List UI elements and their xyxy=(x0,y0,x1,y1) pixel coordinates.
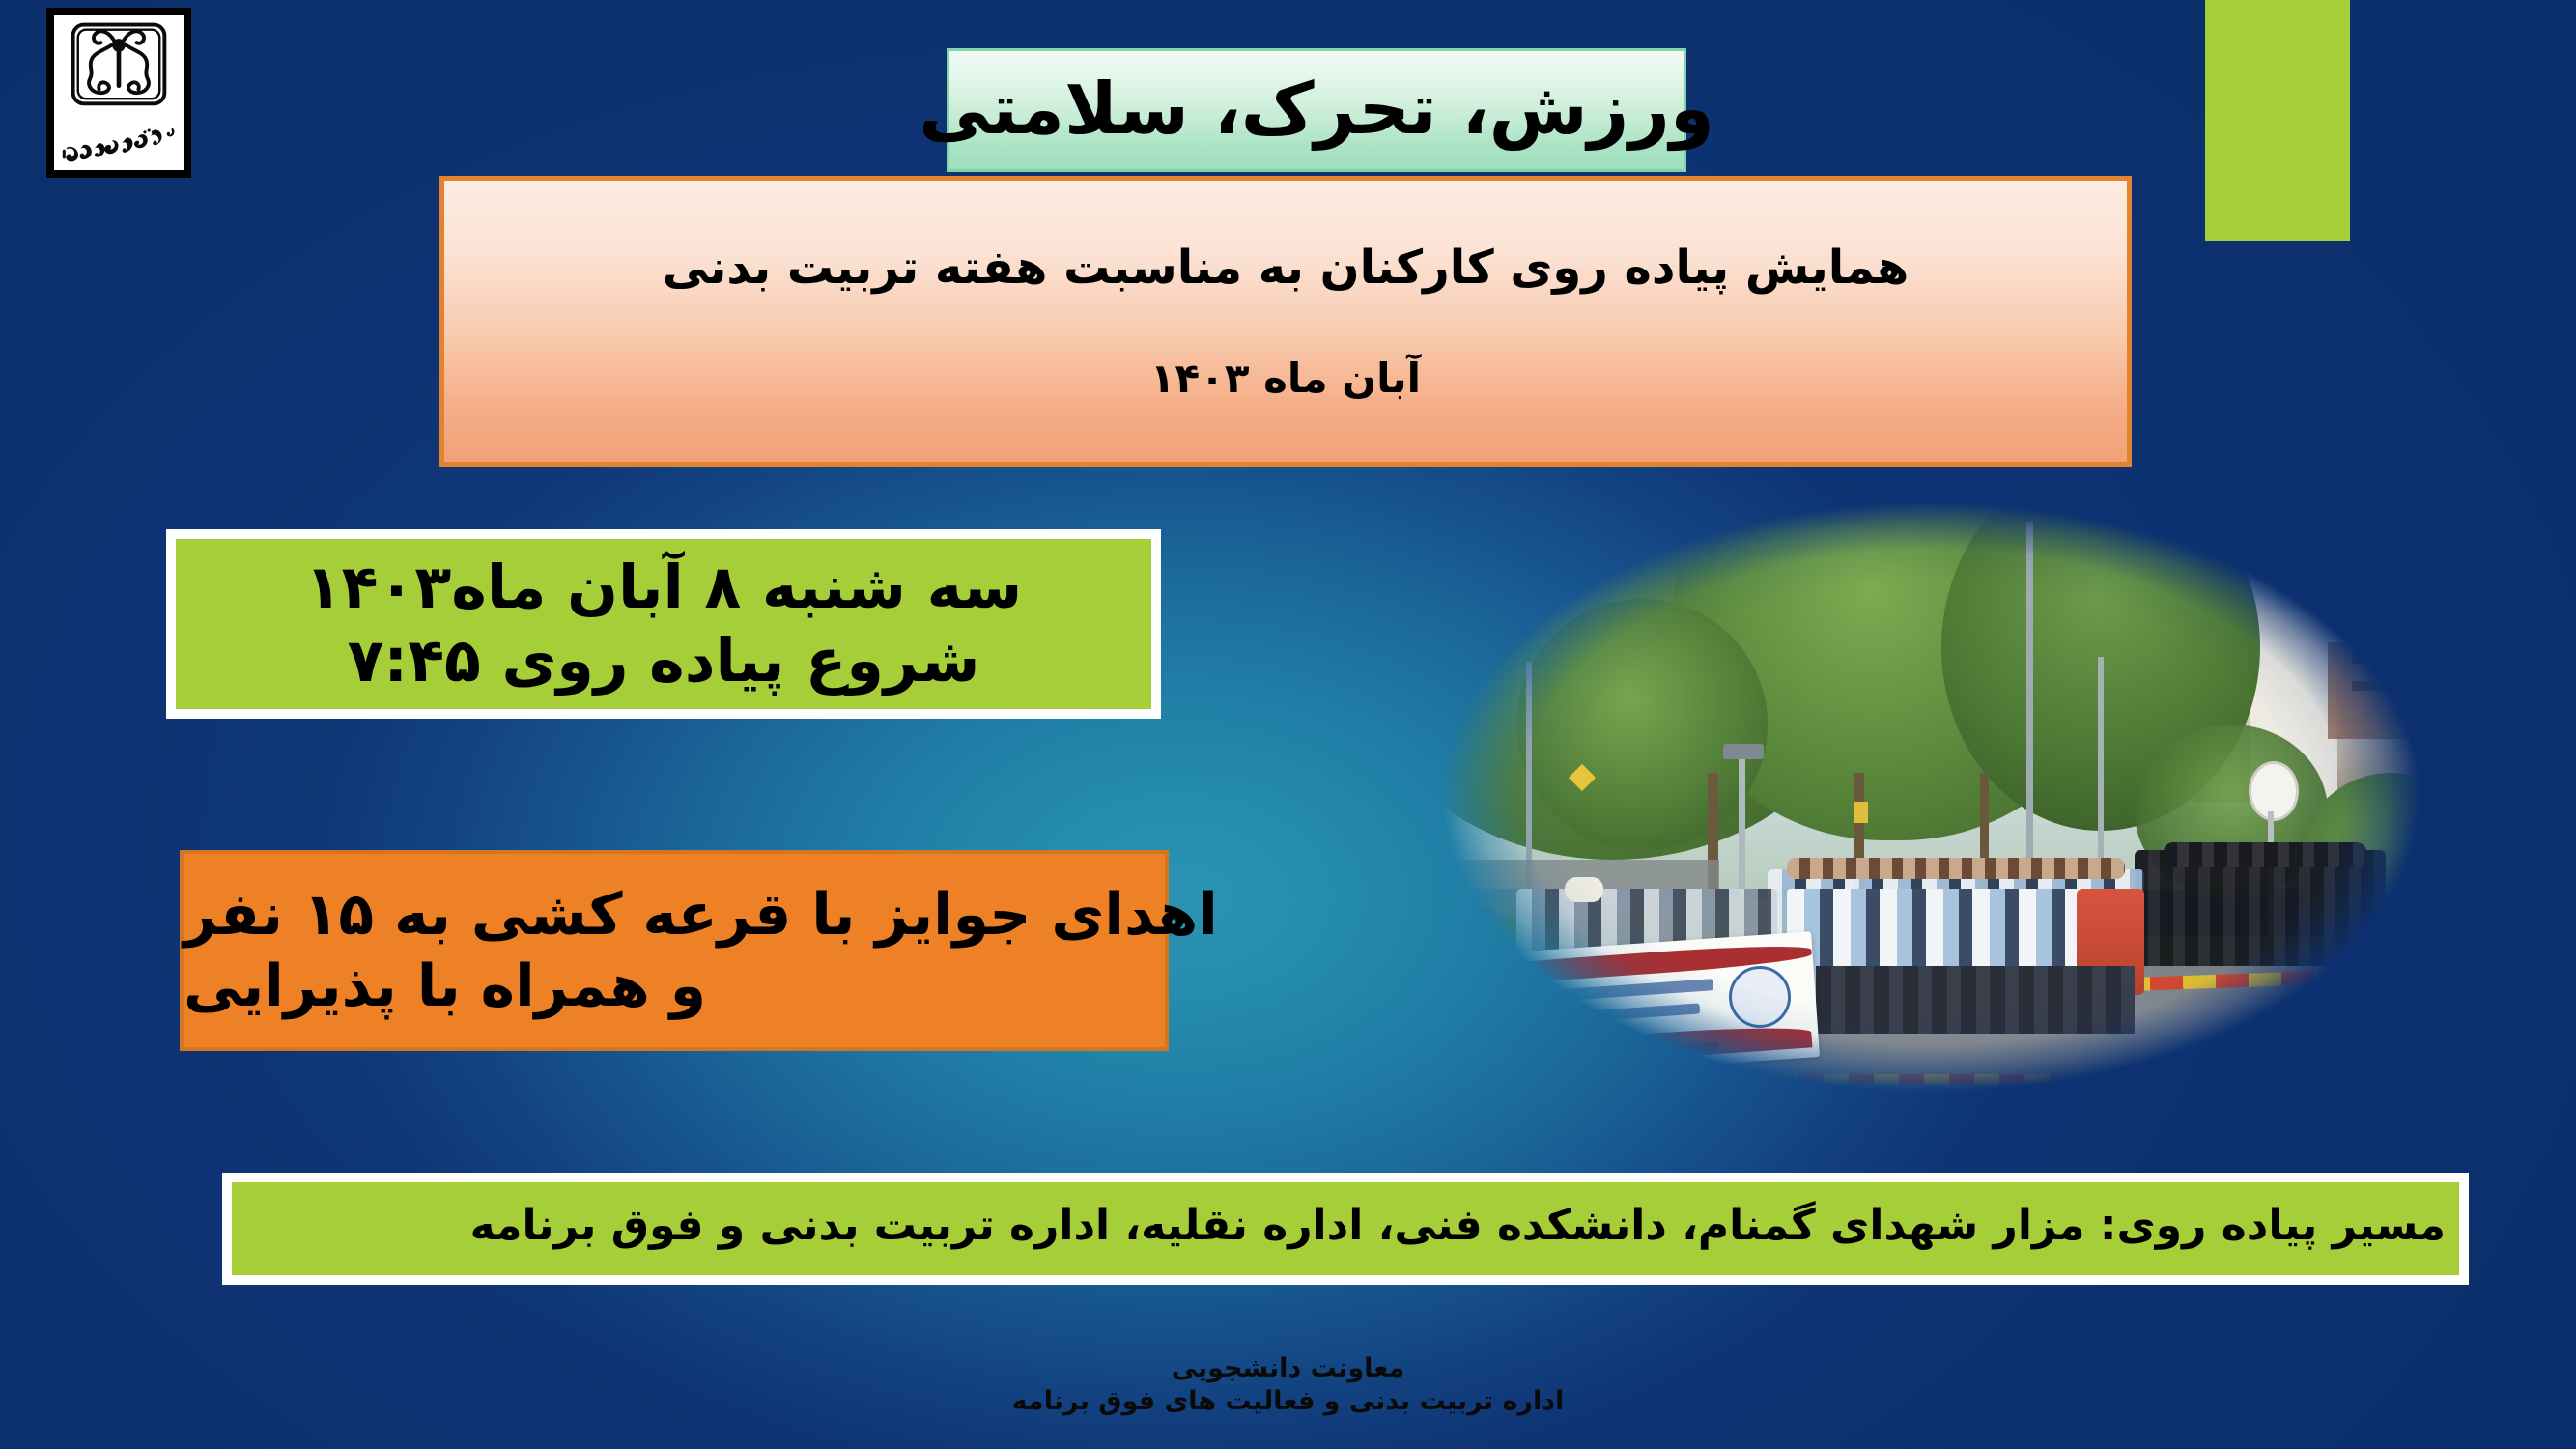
footer-line2: اداره تربیت بدنی و فعالیت های فوق برنامه xyxy=(0,1385,2576,1418)
logo-wordmark-persian xyxy=(58,121,180,163)
poster-footer: معاونت دانشجویی اداره تربیت بدنی و فعالی… xyxy=(0,1352,2576,1418)
prize-line1: اهدای جوایز با قرعه کشی به ۱۵ نفر xyxy=(184,879,1218,951)
green-accent-bar xyxy=(2205,0,2350,241)
event-date-box: سه شنبه ۸ آبان ماه۱۴۰۳ شروع پیاده روی ۷:… xyxy=(166,529,1161,719)
event-header-box: همایش پیاده روی کارکنان به مناسبت هفته ت… xyxy=(439,176,2132,467)
prize-and-refreshments-box: اهدای جوایز با قرعه کشی به ۱۵ نفر و همرا… xyxy=(180,850,1169,1051)
butterfly-emblem-icon xyxy=(65,19,173,120)
photo-content xyxy=(1401,483,2463,1111)
event-header-line2: آبان ماه ۱۴۰۳ xyxy=(1150,355,1421,402)
event-header-line1: همایش پیاده روی کارکنان به مناسبت هفته ت… xyxy=(663,241,1909,295)
event-date-line1: سه شنبه ۸ آبان ماه۱۴۰۳ xyxy=(305,551,1022,624)
event-start-time-line: شروع پیاده روی ۷:۴۵ xyxy=(348,624,980,697)
university-logo xyxy=(46,8,191,178)
walking-route-box: مسیر پیاده روی: مزار شهدای گمنام، دانشکد… xyxy=(222,1173,2469,1285)
poster-title-banner: ورزش، تحرک، سلامتی xyxy=(947,48,1686,172)
footer-line1: معاونت دانشجویی xyxy=(0,1352,2576,1385)
walking-event-photo xyxy=(1401,483,2463,1111)
poster-title-text: ورزش، تحرک، سلامتی xyxy=(919,72,1714,148)
poster-canvas: ورزش، تحرک، سلامتی همایش پیاده روی کارکن… xyxy=(0,0,2576,1449)
walking-route-text: مسیر پیاده روی: مزار شهدای گمنام، دانشکد… xyxy=(195,1198,2446,1254)
logo-field xyxy=(54,15,184,170)
prize-line2: و همراه با پذیرایی xyxy=(184,951,706,1022)
